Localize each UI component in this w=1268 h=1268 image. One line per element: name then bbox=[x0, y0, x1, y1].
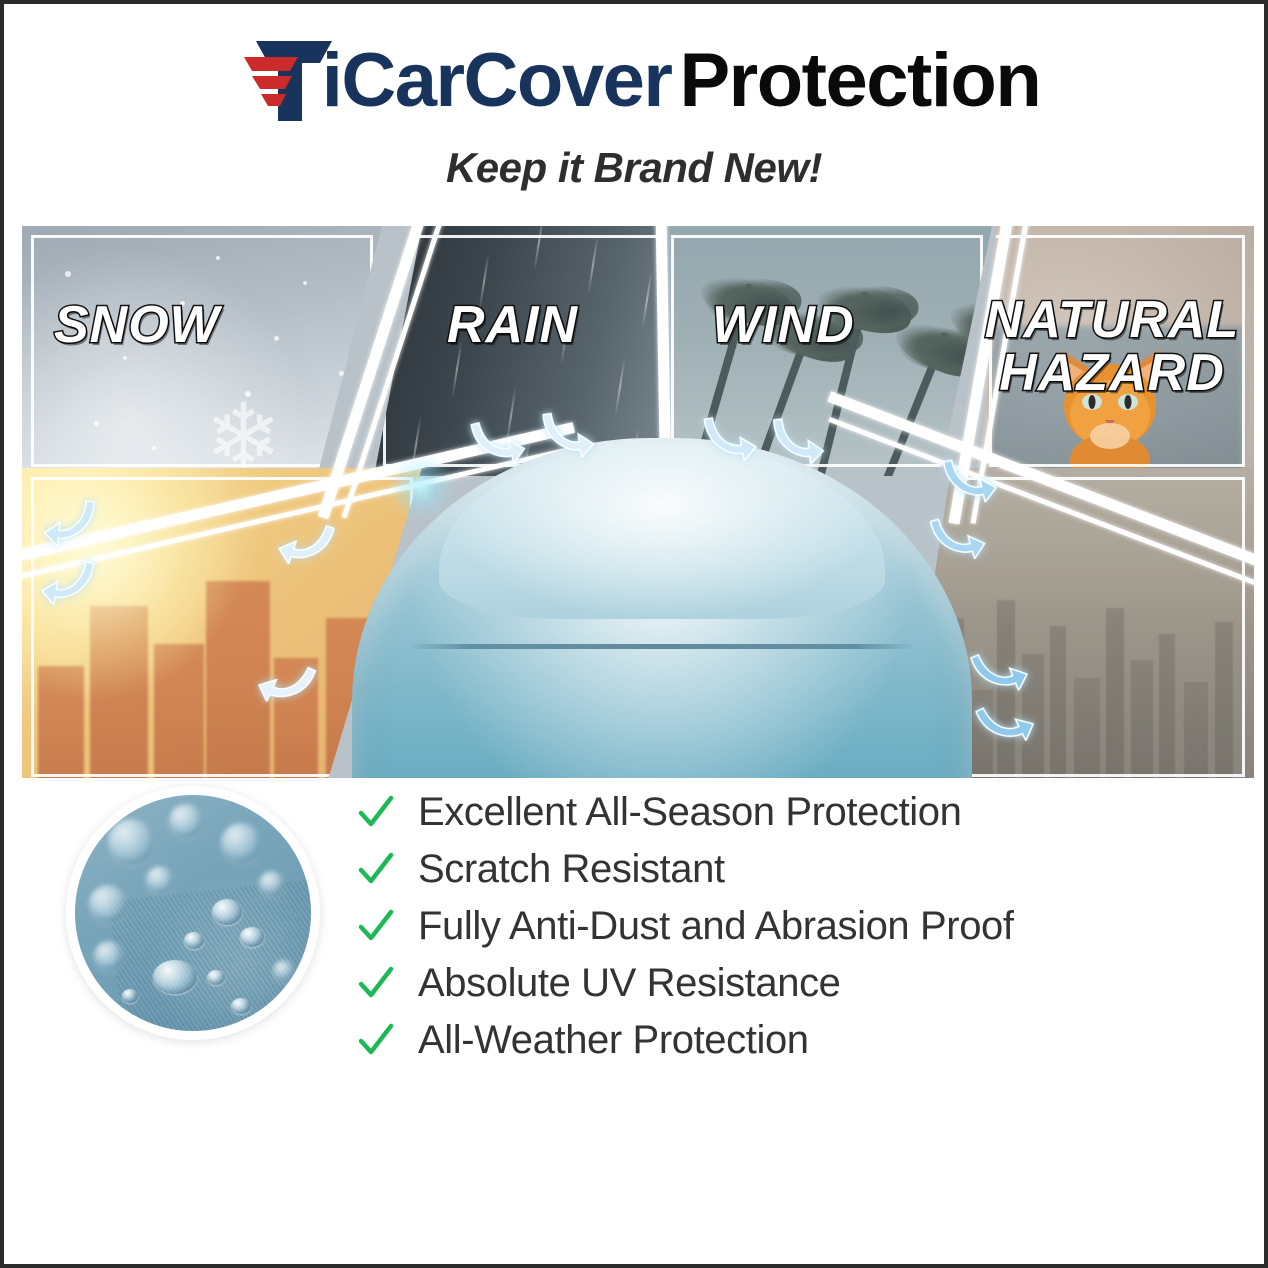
brand-name: iCarCover bbox=[322, 43, 672, 119]
check-icon bbox=[356, 1021, 396, 1061]
title-row: iCarCover Protection bbox=[4, 37, 1264, 125]
feature-item: Excellent All-Season Protection bbox=[356, 784, 1196, 841]
check-icon bbox=[356, 964, 396, 1004]
panel-label-line2: HAZARD bbox=[972, 347, 1252, 400]
feature-item: All-Weather Protection bbox=[356, 1012, 1196, 1069]
snowflake-icon: ❄ bbox=[205, 392, 282, 476]
tagline: Keep it Brand New! bbox=[4, 144, 1264, 192]
features-section: Excellent All-Season Protection Scratch … bbox=[4, 778, 1264, 1264]
car-cover-seam bbox=[408, 644, 916, 649]
deflection-arrow-icon bbox=[759, 411, 826, 469]
feature-label: Scratch Resistant bbox=[418, 847, 725, 892]
check-icon bbox=[356, 793, 396, 833]
car-cover-roof bbox=[439, 444, 885, 619]
feature-item: Fully Anti-Dust and Abrasion Proof bbox=[356, 898, 1196, 955]
panel-label-natural-hazard: NATURAL HAZARD bbox=[972, 294, 1252, 400]
feature-item: Absolute UV Resistance bbox=[356, 955, 1196, 1012]
deflection-arrow-icon bbox=[690, 407, 760, 469]
header: iCarCover Protection Keep it Brand New! bbox=[4, 4, 1264, 209]
product-infographic: iCarCover Protection Keep it Brand New! … bbox=[0, 0, 1268, 1268]
check-icon bbox=[356, 850, 396, 890]
hazard-collage: ❄ bbox=[22, 226, 1254, 786]
product-word: Protection bbox=[679, 43, 1040, 119]
water-beading-fabric-closeup-icon bbox=[66, 786, 320, 1040]
sparkle-icon bbox=[386, 452, 456, 522]
feature-label: Excellent All-Season Protection bbox=[418, 790, 961, 835]
panel-label-rain: RAIN bbox=[447, 299, 578, 352]
icarcover-flag-logo-icon bbox=[228, 37, 336, 125]
feature-label: Absolute UV Resistance bbox=[418, 961, 841, 1006]
feature-label: All-Weather Protection bbox=[418, 1018, 809, 1063]
deflection-arrow-icon bbox=[41, 493, 108, 551]
panel-label-snow: SNOW bbox=[54, 299, 220, 352]
feature-label: Fully Anti-Dust and Abrasion Proof bbox=[418, 904, 1014, 949]
check-icon bbox=[356, 907, 396, 947]
feature-item: Scratch Resistant bbox=[356, 841, 1196, 898]
deflection-arrow-icon bbox=[38, 551, 108, 613]
deflection-arrow-icon bbox=[529, 404, 598, 464]
panel-label-wind: WIND bbox=[712, 299, 855, 352]
feature-list: Excellent All-Season Protection Scratch … bbox=[356, 784, 1196, 1069]
covered-car-image bbox=[352, 438, 972, 786]
panel-label-line1: NATURAL bbox=[972, 294, 1252, 347]
